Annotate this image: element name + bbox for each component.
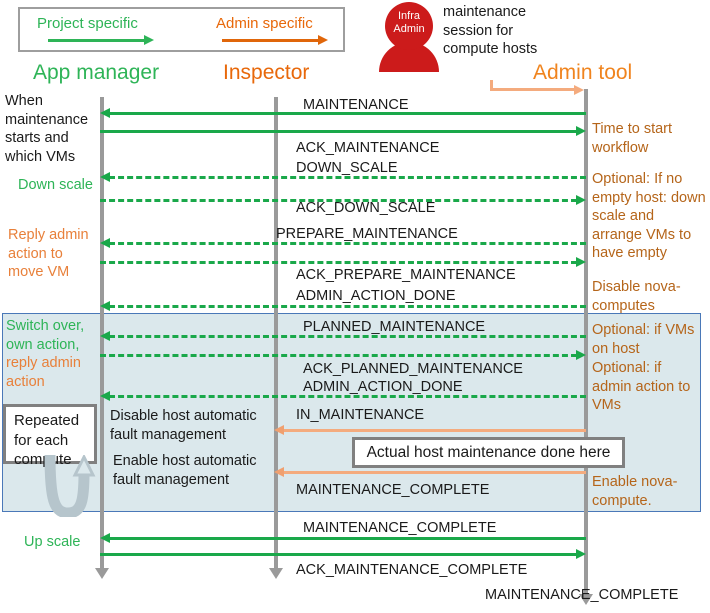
actor-name-line1: Infra bbox=[398, 10, 420, 22]
note-up-scale: Up scale bbox=[24, 533, 102, 552]
msg-arrow-down-scale bbox=[100, 172, 586, 183]
msg-arrow-in-maintenance bbox=[274, 425, 586, 436]
note-enable-nova-compute: Enable nova-compute. bbox=[592, 473, 702, 510]
legend-project-arrow-icon bbox=[48, 35, 154, 46]
msg-label-ack-maintenance: ACK_MAINTENANCE bbox=[296, 139, 439, 157]
msg-arrow-ack-maintenance bbox=[100, 126, 586, 137]
actor-name-label: Infra Admin bbox=[385, 10, 433, 36]
msg-label-in-maintenance: IN_MAINTENANCE bbox=[296, 406, 424, 424]
actor-caption: maintenance session for compute hosts bbox=[443, 3, 553, 59]
msg-arrow-planned-return bbox=[100, 391, 586, 402]
msg-label-maintenance-complete-1: MAINTENANCE_COMPLETE bbox=[296, 481, 489, 499]
lifeline-end-app-manager-icon bbox=[95, 568, 109, 579]
actor-name-line2: Admin bbox=[393, 23, 424, 35]
loop-arrow-icon bbox=[28, 455, 108, 517]
note-when-maintenance-starts: When maintenance starts and which VMs bbox=[5, 92, 99, 166]
msg-label-ack-planned-maintenance: ACK_PLANNED_MAINTENANCE bbox=[303, 360, 523, 378]
note-reply-admin-action: reply admin action bbox=[6, 354, 101, 391]
note-optional-no-empty-host: Optional: If no empty host: down scale a… bbox=[592, 170, 708, 263]
note-disable-nova-computes: Disable nova-computes bbox=[592, 278, 704, 315]
note-down-scale: Down scale bbox=[18, 176, 102, 195]
lifeline-end-inspector-icon bbox=[269, 568, 283, 579]
msg-label-ack-maintenance-complete: ACK_MAINTENANCE_COMPLETE bbox=[296, 561, 527, 579]
note-optional-vms-on-host: Optional: if VMs on host bbox=[592, 321, 704, 358]
legend-admin-label: Admin specific bbox=[216, 16, 313, 32]
legend-admin-arrow-icon bbox=[222, 35, 328, 46]
note-switch-over-own-action: Switch over, own action, bbox=[6, 317, 101, 354]
note-enable-host-fault-management: Enable host automatic fault management bbox=[113, 452, 283, 489]
note-reply-admin-action-move-vm: Reply admin action to move VM bbox=[8, 226, 102, 282]
lifeline-admin-tool bbox=[584, 89, 588, 595]
legend-project-label: Project specific bbox=[37, 16, 138, 32]
msg-arrow-maintenance-complete-app bbox=[100, 533, 586, 544]
participant-app-manager: App manager bbox=[33, 62, 159, 84]
participant-inspector: Inspector bbox=[223, 62, 309, 84]
msg-arrow-maintenance bbox=[100, 108, 586, 119]
msg-label-ack-down-scale: ACK_DOWN_SCALE bbox=[296, 199, 435, 217]
msg-arrow-prepare-maintenance bbox=[100, 238, 586, 249]
msg-label-ack-prepare-maintenance: ACK_PREPARE_MAINTENANCE bbox=[296, 266, 516, 284]
note-disable-host-fault-management: Disable host automatic fault management bbox=[110, 407, 280, 444]
callout-actual-host-maintenance: Actual host maintenance done here bbox=[352, 437, 625, 468]
note-optional-admin-action-to-vms: Optional: if admin action to VMs bbox=[592, 359, 704, 415]
admin-entry-arrow-icon bbox=[490, 80, 586, 94]
msg-arrow-ack-maintenance-complete bbox=[100, 549, 586, 560]
infra-admin-actor-icon: Infra Admin bbox=[378, 2, 440, 64]
msg-arrow-maintenance-complete-inspector bbox=[274, 467, 586, 478]
msg-arrow-admin-action-done-return bbox=[100, 301, 586, 312]
msg-label-maintenance-complete-final: MAINTENANCE_COMPLETE bbox=[485, 586, 678, 604]
msg-arrow-planned-maintenance bbox=[100, 331, 586, 342]
note-time-to-start-workflow: Time to start workflow bbox=[592, 120, 708, 157]
